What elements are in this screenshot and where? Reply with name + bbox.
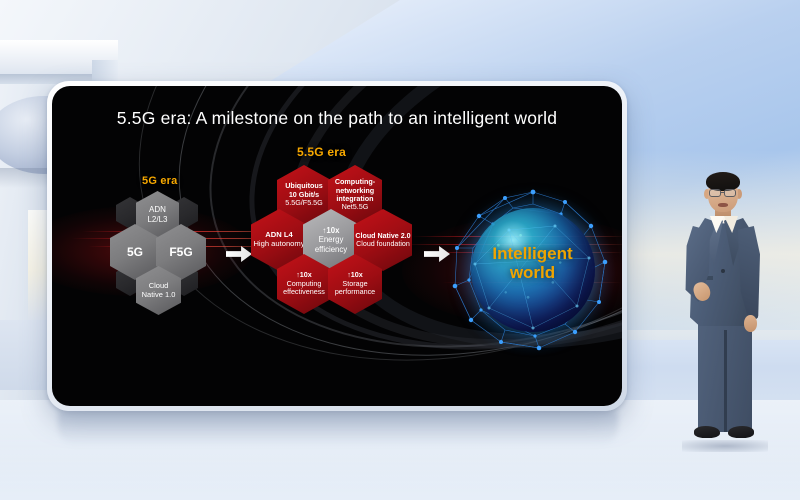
label-5g-era: 5G era xyxy=(142,175,177,187)
screen-floor-reflection xyxy=(58,412,618,446)
presenter-leg-seam xyxy=(724,330,727,432)
hex-energy-efficiency-line1: ↑10x xyxy=(323,226,340,235)
hex-energy-efficiency-line2: Energy efficiency xyxy=(303,235,359,253)
presenter-hand-left xyxy=(744,315,757,332)
presenter-glasses-left-lens xyxy=(709,189,721,197)
hex-computing-networking-line4: Net5.5G xyxy=(342,203,369,211)
presenter xyxy=(672,172,776,454)
globe-label-line1: Intelligent xyxy=(445,244,620,263)
presentation-screen[interactable]: 5.5G era: A milestone on the path to an … xyxy=(47,81,627,411)
slide-title: 5.5G era: A milestone on the path to an … xyxy=(52,108,622,129)
label-55g-era: 5.5G era xyxy=(297,145,346,159)
globe-label: Intelligent world xyxy=(445,244,620,282)
slide-canvas: 5.5G era: A milestone on the path to an … xyxy=(52,86,622,406)
presenter-mouth xyxy=(718,203,728,207)
arrow-5g-to-55g-icon xyxy=(226,246,252,262)
studio-stage: 5.5G era: A milestone on the path to an … xyxy=(0,0,800,500)
hex-storage-performance-line3: performance xyxy=(335,288,375,296)
intelligent-world-globe: Intelligent world xyxy=(445,186,620,361)
hex-computing-effectiveness-line3: effectiveness xyxy=(283,288,325,296)
hex-adn-l2l3-line2: L2/L3 xyxy=(147,215,167,224)
presenter-shoe-left xyxy=(694,426,720,438)
presenter-glasses-bridge xyxy=(721,192,724,193)
hex-adn-l2l3-line1: ADN xyxy=(149,205,166,214)
hex-adn-l4-line2: High autonomy xyxy=(253,240,304,249)
presenter-glasses-right-lens xyxy=(724,189,736,197)
presenter-shadow xyxy=(682,440,768,452)
hex-ubiquitous-line3: 5.5G/F5.5G xyxy=(285,199,323,207)
hex-cloud-native-2-line1: Cloud Native 2.0 xyxy=(355,232,410,240)
hex-f5g-label: F5G xyxy=(169,245,192,259)
presenter-shoe-right xyxy=(728,426,754,438)
hex-5g-label: 5G xyxy=(127,245,143,259)
hex-cloud-native-2-line2: Cloud foundation xyxy=(356,240,410,248)
hex-cloud-native-1-line2: Native 1.0 xyxy=(142,291,176,300)
presenter-jacket-button xyxy=(721,269,725,273)
globe-label-line2: world xyxy=(445,263,620,282)
